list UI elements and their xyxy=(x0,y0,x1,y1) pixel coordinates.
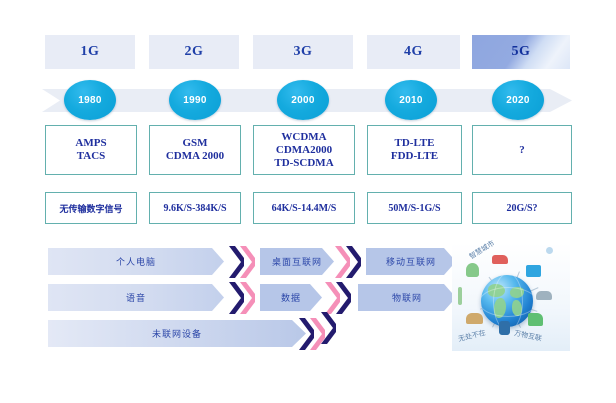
iot-globe-illustration: 智慧城市 无处不在 万物互联 xyxy=(452,243,570,351)
globe-icon xyxy=(481,275,533,327)
technology-line: FDD-LTE xyxy=(391,150,438,163)
year-bubble-2010[interactable]: 2010 xyxy=(385,80,437,120)
technology-line: GSM xyxy=(182,137,207,150)
chevron-pair-icon xyxy=(228,281,258,315)
technology-line: CDMA2000 xyxy=(276,144,332,157)
evolution-segment-iot[interactable]: 物联网 xyxy=(358,284,456,311)
evolution-diagram: 个人电脑 桌面互联网 移动互联网 语音 xyxy=(48,248,468,358)
evolution-segment-label: 桌面互联网 xyxy=(272,255,322,268)
generation-label: 4G xyxy=(404,44,423,60)
year-label: 1980 xyxy=(78,95,101,106)
technology-box-1g[interactable]: AMPS TACS xyxy=(45,125,137,175)
speed-label: 20G/S? xyxy=(506,203,537,214)
chevron-pair-icon xyxy=(334,245,364,279)
chevron-pair-icon xyxy=(324,281,354,315)
generation-label: 1G xyxy=(81,44,100,60)
technology-row: AMPS TACS GSM CDMA 2000 WCDMA CDMA2000 T… xyxy=(45,125,570,173)
generation-label: 5G xyxy=(512,44,531,60)
technology-box-5g[interactable]: ? xyxy=(472,125,572,175)
truck-icon xyxy=(526,265,541,277)
evolution-segment-label: 移动互联网 xyxy=(386,255,436,268)
year-bubble-2020[interactable]: 2020 xyxy=(492,80,544,120)
evolution-segment-desktop-internet[interactable]: 桌面互联网 xyxy=(260,248,334,275)
year-label: 1990 xyxy=(183,95,206,106)
ambulance-icon xyxy=(492,255,508,264)
generation-chip-2g[interactable]: 2G xyxy=(149,35,239,69)
person-icon xyxy=(499,321,510,335)
year-bubble-1990[interactable]: 1990 xyxy=(169,80,221,120)
speed-label: 无传输数字信号 xyxy=(59,202,122,215)
speed-label: 64K/S-14.4M/S xyxy=(272,203,337,214)
speed-box-2g[interactable]: 9.6K/S-384K/S xyxy=(149,192,241,224)
speed-box-4g[interactable]: 50M/S-1G/S xyxy=(367,192,462,224)
generation-header-row: 1G 2G 3G 4G 5G xyxy=(45,35,570,69)
year-bubble-1980[interactable]: 1980 xyxy=(64,80,116,120)
chevron-pair-icon xyxy=(228,245,258,279)
evolution-segment-personal-computer[interactable]: 个人电脑 xyxy=(48,248,224,275)
generation-chip-3g[interactable]: 3G xyxy=(253,35,353,69)
generation-label: 2G xyxy=(185,44,204,60)
technology-box-2g[interactable]: GSM CDMA 2000 xyxy=(149,125,241,175)
money-icon xyxy=(528,313,543,326)
technology-line: TACS xyxy=(77,150,106,163)
evolution-segment-label: 个人电脑 xyxy=(116,255,156,268)
generation-chip-4g[interactable]: 4G xyxy=(367,35,460,69)
technology-line: TD-LTE xyxy=(395,137,435,150)
evolution-segment-label: 未联网设备 xyxy=(152,327,202,340)
speed-label: 50M/S-1G/S xyxy=(388,203,440,214)
speed-box-5g[interactable]: 20G/S? xyxy=(472,192,572,224)
diagram-canvas: 1G 2G 3G 4G 5G 1980 1990 2000 2010 2020 xyxy=(0,0,616,403)
technology-box-3g[interactable]: WCDMA CDMA2000 TD-SCDMA xyxy=(253,125,355,175)
year-label: 2020 xyxy=(506,95,529,106)
year-bubble-2000[interactable]: 2000 xyxy=(277,80,329,120)
speed-box-1g[interactable]: 无传输数字信号 xyxy=(45,192,137,224)
year-timeline: 1980 1990 2000 2010 2020 xyxy=(42,80,572,120)
globe-arc-label-bottom-right: 万物互联 xyxy=(513,328,542,344)
globe-arc-label-bottom-left: 无处不在 xyxy=(457,328,487,344)
evolution-segment-mobile-internet[interactable]: 移动互联网 xyxy=(366,248,456,275)
evolution-segment-voice[interactable]: 语音 xyxy=(48,284,224,311)
technology-box-4g[interactable]: TD-LTE FDD-LTE xyxy=(367,125,462,175)
year-label: 2010 xyxy=(399,95,422,106)
generation-chip-5g[interactable]: 5G xyxy=(472,35,570,69)
house-icon xyxy=(466,313,483,324)
chevron-triple-icon xyxy=(298,317,344,351)
technology-line: CDMA 2000 xyxy=(166,150,224,163)
wind-turbine-icon xyxy=(458,287,462,305)
signal-dot-icon xyxy=(546,247,553,254)
generation-chip-1g[interactable]: 1G xyxy=(45,35,135,69)
generation-label: 3G xyxy=(294,44,313,60)
speed-box-3g[interactable]: 64K/S-14.4M/S xyxy=(253,192,355,224)
evolution-segment-label: 语音 xyxy=(126,291,146,304)
technology-line: WCDMA xyxy=(281,131,326,144)
speed-label: 9.6K/S-384K/S xyxy=(163,203,226,214)
technology-line: ? xyxy=(519,144,525,157)
evolution-segment-data[interactable]: 数据 xyxy=(260,284,322,311)
evolution-segment-label: 物联网 xyxy=(392,291,422,304)
tree-icon xyxy=(466,263,479,277)
evolution-segment-unconnected-devices[interactable]: 未联网设备 xyxy=(48,320,306,347)
speed-row: 无传输数字信号 9.6K/S-384K/S 64K/S-14.4M/S 50M/… xyxy=(45,192,570,222)
technology-line: TD-SCDMA xyxy=(274,157,333,170)
technology-line: AMPS xyxy=(75,137,106,150)
year-label: 2000 xyxy=(291,95,314,106)
car-icon xyxy=(536,291,552,300)
evolution-segment-label: 数据 xyxy=(281,291,301,304)
